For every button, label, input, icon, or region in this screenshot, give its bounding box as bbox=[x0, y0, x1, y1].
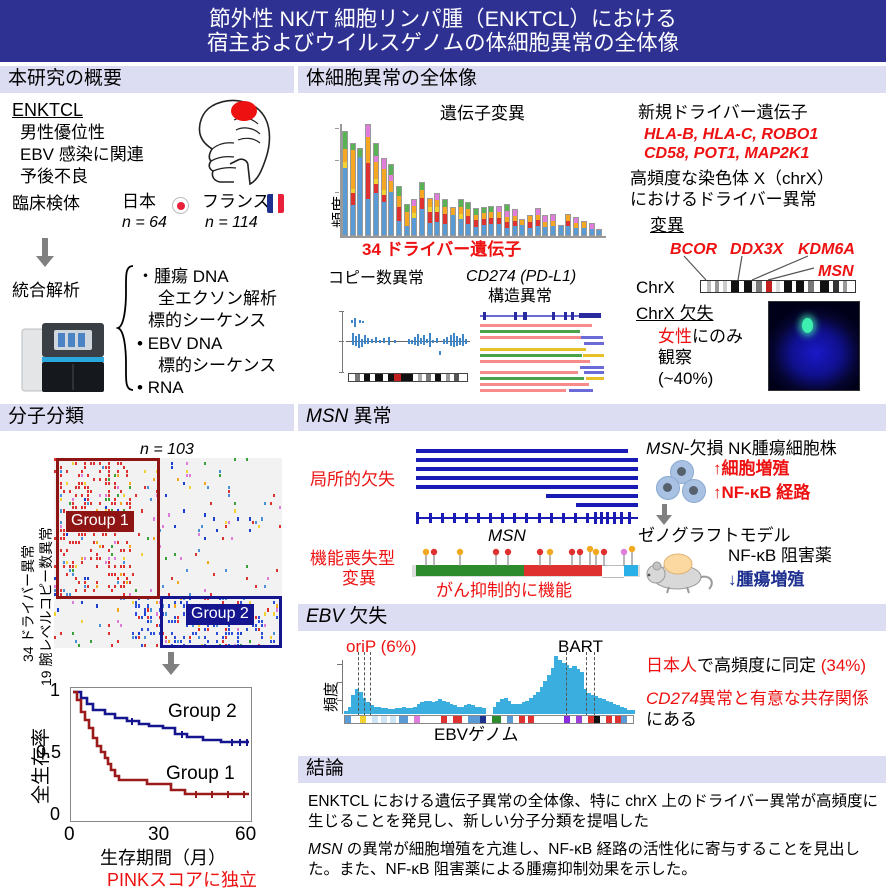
mutation-chart-yaxis bbox=[340, 124, 342, 237]
mutation-bar bbox=[565, 214, 571, 236]
sv-line bbox=[586, 377, 604, 380]
oncoprint-cell bbox=[144, 636, 146, 639]
mutation-bar bbox=[535, 208, 541, 236]
msn-exon bbox=[594, 512, 597, 524]
mutation-bar-segment-nonsense bbox=[459, 207, 463, 214]
oncoprint-cell bbox=[117, 620, 119, 623]
oncoprint-cell bbox=[177, 478, 179, 481]
oncoprint-cell bbox=[132, 636, 134, 639]
mutation-bar-segment-frameshift bbox=[374, 184, 378, 194]
poster-title: 節外性 NK/T 細胞リンパ腫（ENKTCL）における 宿主およびウイルスゲノム… bbox=[0, 0, 886, 62]
oncoprint-cell bbox=[156, 601, 158, 604]
separator-horizontal-right-2 bbox=[298, 600, 886, 604]
mutation-bar-segment-missense bbox=[374, 193, 378, 235]
panel-study-overview: 本研究の概要 ENKTCL 男性優位性 EBV 感染に関連 予後不良 臨床検体 … bbox=[0, 66, 294, 400]
mutation-bar-segment-frameshift bbox=[466, 216, 470, 224]
km-ylabel: 全生存率 bbox=[26, 728, 53, 804]
msn-deletion-bar bbox=[576, 503, 638, 507]
oncoprint-cell bbox=[144, 608, 146, 611]
sv-line bbox=[569, 389, 593, 392]
mutation-bar-segment-missense bbox=[466, 224, 470, 235]
cohort-0-country: 日本 bbox=[122, 192, 156, 212]
oncoprint-cell bbox=[162, 525, 164, 528]
msn-exon bbox=[550, 513, 553, 523]
assay-0-name: ・腫瘍 DNA bbox=[137, 267, 229, 287]
mutation-bar-segment-frameshift bbox=[528, 222, 532, 229]
oncoprint-cell bbox=[225, 569, 227, 572]
mutation-bar-segment-missense bbox=[582, 228, 586, 235]
oncoprint-cell bbox=[150, 616, 152, 619]
msn-exon bbox=[441, 513, 444, 523]
sv-line bbox=[480, 330, 580, 333]
mutation-bar bbox=[504, 204, 510, 236]
oncoprint-cell bbox=[183, 509, 185, 512]
panel-heading-msn: MSN 異常 bbox=[298, 404, 886, 431]
ebv-frequency-bar bbox=[630, 710, 634, 714]
oncoprint-cell bbox=[276, 569, 278, 572]
oncoprint-cell bbox=[201, 525, 203, 528]
ebv-note-1: 日本人で高頻度に同定 (34%) bbox=[646, 656, 866, 676]
oncoprint-cell bbox=[156, 644, 158, 647]
sv-title-line2: 構造異常 bbox=[488, 287, 552, 306]
mutation-bar-segment-missense bbox=[389, 192, 393, 235]
mutation-bar-segment-missense bbox=[543, 227, 547, 235]
msn-arrow-head bbox=[656, 515, 672, 525]
oncoprint-cell bbox=[147, 604, 149, 607]
mutation-bar-segment-frameshift bbox=[351, 193, 355, 205]
chrx-loss-line2: 観察 bbox=[658, 348, 692, 368]
oncoprint-cell bbox=[198, 533, 200, 536]
km-xtick-30: 30 bbox=[148, 824, 169, 847]
conclusion-paragraph-2: MSN の異常が細胞増殖を亢進し、NF-κB 経路の活性化に寄与することを見出し… bbox=[308, 840, 880, 881]
msn-xenograft-title: ゼノグラフトモデル bbox=[638, 526, 791, 546]
assay-1-name: • EBV DNA bbox=[137, 334, 222, 354]
mutation-chart-tick-1 bbox=[335, 160, 339, 161]
mutation-bar-segment-frameshift bbox=[420, 198, 424, 210]
msn-exon bbox=[489, 513, 492, 523]
oncoprint-cell bbox=[108, 632, 110, 635]
oncoprint-cell bbox=[138, 636, 140, 639]
oncoprint-cell bbox=[135, 612, 137, 615]
oncoprint-cell bbox=[132, 601, 134, 604]
ebv-dash-line bbox=[370, 652, 371, 716]
ebv-ylabel: 頻度 bbox=[320, 682, 341, 712]
oncoprint-cell bbox=[234, 509, 236, 512]
oncoprint-cell bbox=[81, 601, 83, 604]
ebv-ytick bbox=[337, 700, 342, 701]
oncoprint-cell bbox=[174, 553, 176, 556]
mutation-bar-segment-missense bbox=[505, 228, 509, 235]
ebv-dash-line bbox=[364, 652, 365, 716]
sv-line bbox=[580, 366, 604, 369]
oncoprint-cell bbox=[150, 620, 152, 623]
km-ytick-0: 0 bbox=[50, 804, 60, 826]
panel-conclusion: 結論 ENKTCL における遺伝子異常の全体像、特に chrX 上のドライバー異… bbox=[298, 756, 886, 876]
mutation-bar bbox=[527, 215, 533, 236]
panel-somatic-overview: 体細胞異常の全体像 遺伝子変異 頻度 34 ドライバー遺伝子 コピー数異常 CD… bbox=[298, 66, 886, 400]
oncoprint-cell bbox=[147, 628, 149, 631]
km-ytick-05: 0.5 bbox=[36, 742, 61, 764]
msn-exon bbox=[416, 512, 419, 524]
novel-drivers-line2: CD58, POT1, MAP2K1 bbox=[644, 144, 809, 163]
msn-lof-label-1: 機能喪失型 bbox=[310, 549, 395, 569]
cohort-1-country: フランス bbox=[202, 192, 270, 212]
assay-0-sub-0: 全エクソン解析 bbox=[158, 289, 277, 309]
overview-disease-name: ENKTCL bbox=[12, 100, 83, 122]
mutation-bar-segment-missense bbox=[520, 225, 524, 235]
sv-line bbox=[480, 389, 566, 392]
overview-arrow-head bbox=[36, 256, 54, 267]
brace-icon bbox=[116, 264, 136, 392]
msn-exon bbox=[465, 513, 468, 523]
sv-line bbox=[584, 371, 604, 374]
mutation-bar-segment-missense bbox=[343, 168, 347, 235]
msn-deletion-bar bbox=[416, 458, 638, 462]
km-curve-label-group1: Group 1 bbox=[166, 763, 235, 786]
overview-integration-label: 統合解析 bbox=[12, 281, 80, 301]
mutation-bar-segment-nonsense bbox=[397, 196, 401, 207]
chrx-leader-lines bbox=[668, 254, 838, 282]
chrx-loss-line3: (~40%) bbox=[658, 369, 713, 389]
msn-xenograft-drug: NF-κB 阻害薬 bbox=[728, 546, 832, 566]
overview-arrow-shaft bbox=[42, 238, 48, 258]
oncoprint-cell bbox=[198, 549, 200, 552]
mutation-bar-segment-frameshift bbox=[443, 214, 447, 223]
oncoprint-cell bbox=[216, 529, 218, 532]
oncoprint-cell bbox=[249, 529, 251, 532]
panel-ebv-deletion: EBV 欠失 oriP (6%) BART 欠失 (26%) 頻度 bbox=[298, 604, 886, 752]
mutation-chart-title: 遺伝子変異 bbox=[440, 104, 525, 124]
oncoprint-cell bbox=[99, 624, 101, 627]
ebv-dash-line bbox=[586, 652, 587, 716]
mutation-chart-tick-2 bbox=[335, 192, 339, 193]
ebv-deletion-frequency-plot bbox=[344, 656, 634, 714]
msn-exon bbox=[620, 512, 623, 524]
msn-exon bbox=[477, 513, 480, 523]
mutation-bar-segment-missense bbox=[428, 223, 432, 235]
sv-line bbox=[480, 371, 578, 374]
msn-deletion-bar bbox=[416, 449, 628, 453]
mutation-bar-segment-missense bbox=[405, 226, 409, 235]
oncoprint-cell bbox=[207, 561, 209, 564]
assay-1-sub-0: 標的シーケンス bbox=[158, 356, 276, 376]
cnv-scatter-plot bbox=[342, 309, 470, 381]
oncoprint-cell bbox=[246, 458, 248, 461]
oncoprint-cell bbox=[234, 458, 236, 461]
mutation-bar-segment-missense bbox=[489, 224, 493, 235]
chrx-loss-line1: 女性にのみ bbox=[658, 327, 743, 347]
oncoprint-cell bbox=[219, 474, 221, 477]
oncoprint-cell bbox=[234, 502, 236, 505]
ebv-note-2-cont: にある bbox=[646, 710, 697, 730]
chrx-title-line2: におけるドライバー異常 bbox=[630, 190, 817, 210]
cnv-ideogram bbox=[348, 373, 468, 382]
oncoprint-cell bbox=[213, 573, 215, 576]
mutation-bar-segment-frameshift bbox=[382, 195, 386, 202]
msn-exon bbox=[501, 513, 504, 523]
mutation-bar-segment-frameshift bbox=[474, 220, 478, 227]
mutation-bar-segment-missense bbox=[574, 228, 578, 235]
tumor-cell-icon bbox=[682, 479, 706, 503]
overview-feature-0: 男性優位性 bbox=[20, 123, 105, 143]
mutation-bar bbox=[450, 207, 456, 236]
km-xlabel: 生存期間（月） bbox=[100, 848, 226, 870]
overview-feature-1: EBV 感染に関連 bbox=[20, 145, 144, 165]
mutation-bar-segment-missense bbox=[551, 226, 555, 235]
mutation-bar-segment-nonsense bbox=[382, 169, 386, 190]
mutation-bar-segment-missense bbox=[497, 224, 501, 235]
conclusion-paragraph-1: ENKTCL における遺伝子異常の全体像、特に chrX 上のドライバー異常が高… bbox=[308, 792, 880, 833]
oncoprint-cell bbox=[171, 577, 173, 580]
mutation-bar-segment-frameshift bbox=[397, 207, 401, 221]
sv-line bbox=[480, 324, 592, 327]
oncoprint-cell bbox=[186, 462, 188, 465]
oncoprint-cell bbox=[213, 517, 215, 520]
oncoprint-cell bbox=[210, 502, 212, 505]
mutation-bar-segment-frameshift bbox=[435, 212, 439, 222]
mutation-bar bbox=[427, 198, 433, 236]
sv-line bbox=[480, 354, 582, 357]
oncoprint-cell bbox=[54, 636, 56, 639]
mutation-bar bbox=[465, 202, 471, 236]
oncoprint-cell bbox=[264, 502, 266, 505]
msn-deletion-bar bbox=[416, 476, 638, 480]
oncoprint-cell bbox=[180, 557, 182, 560]
km-ytick-1: 1 bbox=[50, 680, 60, 702]
oncoprint-cell bbox=[183, 482, 185, 485]
oncoprint-cell bbox=[81, 620, 83, 623]
sv-line bbox=[480, 336, 588, 339]
oncoprint-cell bbox=[117, 608, 119, 611]
oncoprint-cell bbox=[117, 640, 119, 643]
mutation-bar-segment-missense bbox=[459, 219, 463, 235]
msn-xenograft-effect: ↓腫瘍増殖 bbox=[728, 570, 805, 590]
msn-lof-label-2: 変異 bbox=[342, 569, 376, 589]
msn-effect-nfkb: ↑NF-κB 経路 bbox=[713, 483, 810, 503]
mutation-bar bbox=[496, 206, 502, 236]
mutation-bar-segment-nonsense bbox=[428, 199, 432, 207]
mutation-bar-segment-nonsense bbox=[374, 162, 378, 179]
msn-focal-deletion-label: 局所的欠失 bbox=[310, 470, 395, 490]
mutation-bar bbox=[434, 193, 440, 236]
panel-molecular-classification: 分子分類 n = 103 34 ドライバー異常 19 腕レベルコピー数異常 Gr… bbox=[0, 404, 294, 876]
mutation-bar-segment-missense bbox=[590, 229, 594, 235]
mutation-bar bbox=[411, 199, 417, 236]
mutation-bar-segment-missense bbox=[435, 222, 439, 235]
mutation-bar-segment-splice bbox=[420, 183, 424, 190]
mutation-bar-segment-missense bbox=[566, 226, 570, 235]
mutation-bar-segment-missense bbox=[358, 157, 362, 236]
group1-label: Group 1 bbox=[66, 511, 134, 532]
cnv-title: コピー数異常 bbox=[328, 269, 424, 288]
msn-exon bbox=[562, 513, 565, 523]
oncoprint-cell bbox=[141, 628, 143, 631]
oncoprint-cell bbox=[228, 494, 230, 497]
oncoprint-cell bbox=[72, 632, 74, 635]
mutation-bar-segment-missense bbox=[382, 202, 386, 235]
oncoprint-cell bbox=[279, 506, 281, 509]
mutation-bar bbox=[481, 207, 487, 236]
oncoprint-cell bbox=[144, 612, 146, 615]
oncoprint-cell bbox=[273, 494, 275, 497]
oncoprint-cell bbox=[228, 486, 230, 489]
oncoprint-cell bbox=[147, 608, 149, 611]
mutation-bar bbox=[388, 164, 394, 236]
mutation-bar-segment-nonsense bbox=[451, 208, 455, 215]
mutation-bar bbox=[596, 229, 602, 236]
msn-deletion-bar bbox=[546, 494, 638, 498]
oncoprint-cell bbox=[255, 585, 257, 588]
mutation-bar bbox=[519, 219, 525, 236]
ebv-note-2: CD274異常と有意な共存関係 bbox=[646, 689, 869, 709]
mutation-bar-segment-nonsense bbox=[420, 190, 424, 197]
mutation-bar-segment-splice bbox=[389, 165, 393, 174]
mutation-bar-segment-missense bbox=[513, 226, 517, 235]
mutation-bar-segment-missense bbox=[482, 225, 486, 235]
msn-exon bbox=[606, 512, 609, 524]
oncoprint-cell bbox=[141, 644, 143, 647]
oncoprint-cell bbox=[186, 474, 188, 477]
ebv-orip-label: oriP (6%) bbox=[346, 637, 417, 657]
mutation-bar bbox=[404, 204, 410, 236]
cohort-1-n: n = 114 bbox=[205, 213, 258, 232]
oncoprint-cell bbox=[255, 521, 257, 524]
oncoprint-cell bbox=[198, 529, 200, 532]
title-line-1: 節外性 NK/T 細胞リンパ腫（ENKTCL）における bbox=[209, 7, 677, 31]
ebv-ytick bbox=[337, 664, 342, 665]
msn-exon bbox=[586, 513, 589, 523]
oncoprint-cell bbox=[204, 462, 206, 465]
oncoprint-cell bbox=[138, 604, 140, 607]
mutation-bar bbox=[396, 186, 402, 236]
oncoprint-cell bbox=[171, 466, 173, 469]
oncoprint-cell bbox=[168, 513, 170, 516]
mutation-bar-segment-nonsense bbox=[466, 209, 470, 216]
fish-microscopy-image bbox=[768, 301, 860, 391]
mutation-bar-segment-missense bbox=[366, 199, 370, 235]
oncoprint-cell bbox=[135, 636, 137, 639]
panel-heading-molclass: 分子分類 bbox=[0, 404, 294, 431]
conclusion-body: ENKTCL における遺伝子異常の全体像、特に chrX 上のドライバー異常が高… bbox=[308, 792, 880, 881]
chrx-loss-title: ChrX 欠失 bbox=[636, 304, 713, 324]
oncoprint-cell bbox=[171, 462, 173, 465]
separator-horizontal-right-1 bbox=[298, 400, 886, 404]
oncoprint-cell bbox=[135, 604, 137, 607]
oncoprint-cell bbox=[264, 585, 266, 588]
msn-exon bbox=[513, 513, 516, 523]
oncoprint-cell bbox=[270, 502, 272, 505]
km-xtick-60: 60 bbox=[235, 824, 256, 847]
oncoprint-cell bbox=[111, 644, 113, 647]
chrx-axis-label: ChrX bbox=[636, 278, 675, 298]
mutation-bar bbox=[550, 214, 556, 236]
sequencer-machine-icon bbox=[20, 321, 108, 397]
oncoprint-cell bbox=[246, 577, 248, 580]
oncoprint-cell bbox=[249, 517, 251, 520]
poster-root: 節外性 NK/T 細胞リンパ腫（ENKTCL）における 宿主およびウイルスゲノム… bbox=[0, 0, 886, 876]
mutation-bar-segment-nonsense bbox=[435, 200, 439, 207]
mouse-xenograft-icon bbox=[643, 549, 721, 595]
oncoprint-cell bbox=[261, 517, 263, 520]
km-footnote: PINKスコアに独立 bbox=[107, 870, 257, 892]
ebv-xlabel: EBVゲノム bbox=[434, 725, 519, 745]
mutation-bar-segment-nonsense bbox=[366, 137, 370, 163]
mutation-bar-segment-missense bbox=[559, 226, 563, 235]
msn-deletion-bar bbox=[416, 467, 638, 471]
oncoprint-cell bbox=[258, 525, 260, 528]
oncoprint-cell bbox=[228, 490, 230, 493]
oncoprint-cell bbox=[147, 620, 149, 623]
mutation-bar-segment-missense bbox=[536, 226, 540, 235]
panel-heading-ebv: EBV 欠失 bbox=[298, 604, 886, 631]
msn-deletion-bar bbox=[416, 485, 638, 489]
mutation-bar-segment-missense bbox=[351, 205, 355, 235]
mutation-chart-xaxis bbox=[340, 236, 606, 238]
oncoprint-cell bbox=[225, 525, 227, 528]
oncoprint-cell bbox=[141, 616, 143, 619]
japan-flag-icon bbox=[172, 197, 189, 214]
ebv-ytick bbox=[337, 682, 342, 683]
mutation-bar bbox=[458, 199, 464, 236]
cnv-points bbox=[342, 309, 470, 381]
msn-lollipop-mutations bbox=[412, 546, 644, 568]
sv-line bbox=[581, 336, 603, 339]
mutation-frequency-barchart bbox=[342, 124, 604, 236]
separator-horizontal-right-3 bbox=[298, 752, 886, 756]
mutation-bar-segment-other bbox=[366, 125, 370, 137]
mutation-bar-segment-missense bbox=[420, 209, 424, 235]
driver-gene-caption: 34 ドライバー遺伝子 bbox=[362, 240, 521, 260]
oncoprint-cell bbox=[165, 557, 167, 560]
novel-drivers-line1: HLA-B, HLA-C, ROBO1 bbox=[644, 125, 818, 144]
mutation-bar-segment-other bbox=[382, 159, 386, 168]
oncoprint-cell bbox=[195, 553, 197, 556]
oncoprint-cell bbox=[186, 569, 188, 572]
oncoprint-cell bbox=[144, 644, 146, 647]
mutation-bar-segment-splice bbox=[358, 149, 362, 156]
sv-title: CD274 (PD-L1) bbox=[466, 267, 576, 286]
msn-tumor-suppressor-label: がん抑制的に機能 bbox=[436, 581, 572, 601]
mutation-bar-segment-splice bbox=[343, 132, 347, 149]
oncoprint-cell bbox=[174, 525, 176, 528]
assay-2-name: • RNA bbox=[137, 378, 184, 398]
separator-horizontal-left bbox=[0, 400, 294, 404]
mutation-bar-segment-nonsense bbox=[412, 206, 416, 213]
mutation-bar-segment-frameshift bbox=[428, 212, 432, 224]
oncoprint-cell bbox=[225, 521, 227, 524]
msn-exon bbox=[600, 512, 603, 524]
ebv-bart-label: BART bbox=[558, 637, 603, 657]
oncoprint-cell bbox=[219, 470, 221, 473]
mutation-bar-segment-missense bbox=[443, 224, 447, 236]
ebv-genome-track bbox=[344, 715, 634, 724]
mutation-bar bbox=[473, 208, 479, 236]
mutation-bar-segment-splice bbox=[459, 200, 463, 207]
oncoprint-cell bbox=[75, 640, 77, 643]
cd274-sv-plot bbox=[480, 311, 604, 383]
oncoprint-cell bbox=[72, 601, 74, 604]
mutation-bar-segment-splice bbox=[405, 205, 409, 212]
mutation-bar bbox=[512, 209, 518, 236]
overview-cohort-label: 臨床検体 bbox=[12, 194, 80, 214]
mutation-bar-segment-splice bbox=[397, 187, 401, 196]
oncoprint-cell bbox=[60, 632, 62, 635]
mutation-bar bbox=[573, 217, 579, 236]
oncoprint-cell bbox=[189, 474, 191, 477]
mutation-bar bbox=[381, 158, 387, 236]
molclass-ylabel-1: 34 ドライバー異常 bbox=[18, 545, 38, 662]
oncoprint-cell bbox=[189, 486, 191, 489]
